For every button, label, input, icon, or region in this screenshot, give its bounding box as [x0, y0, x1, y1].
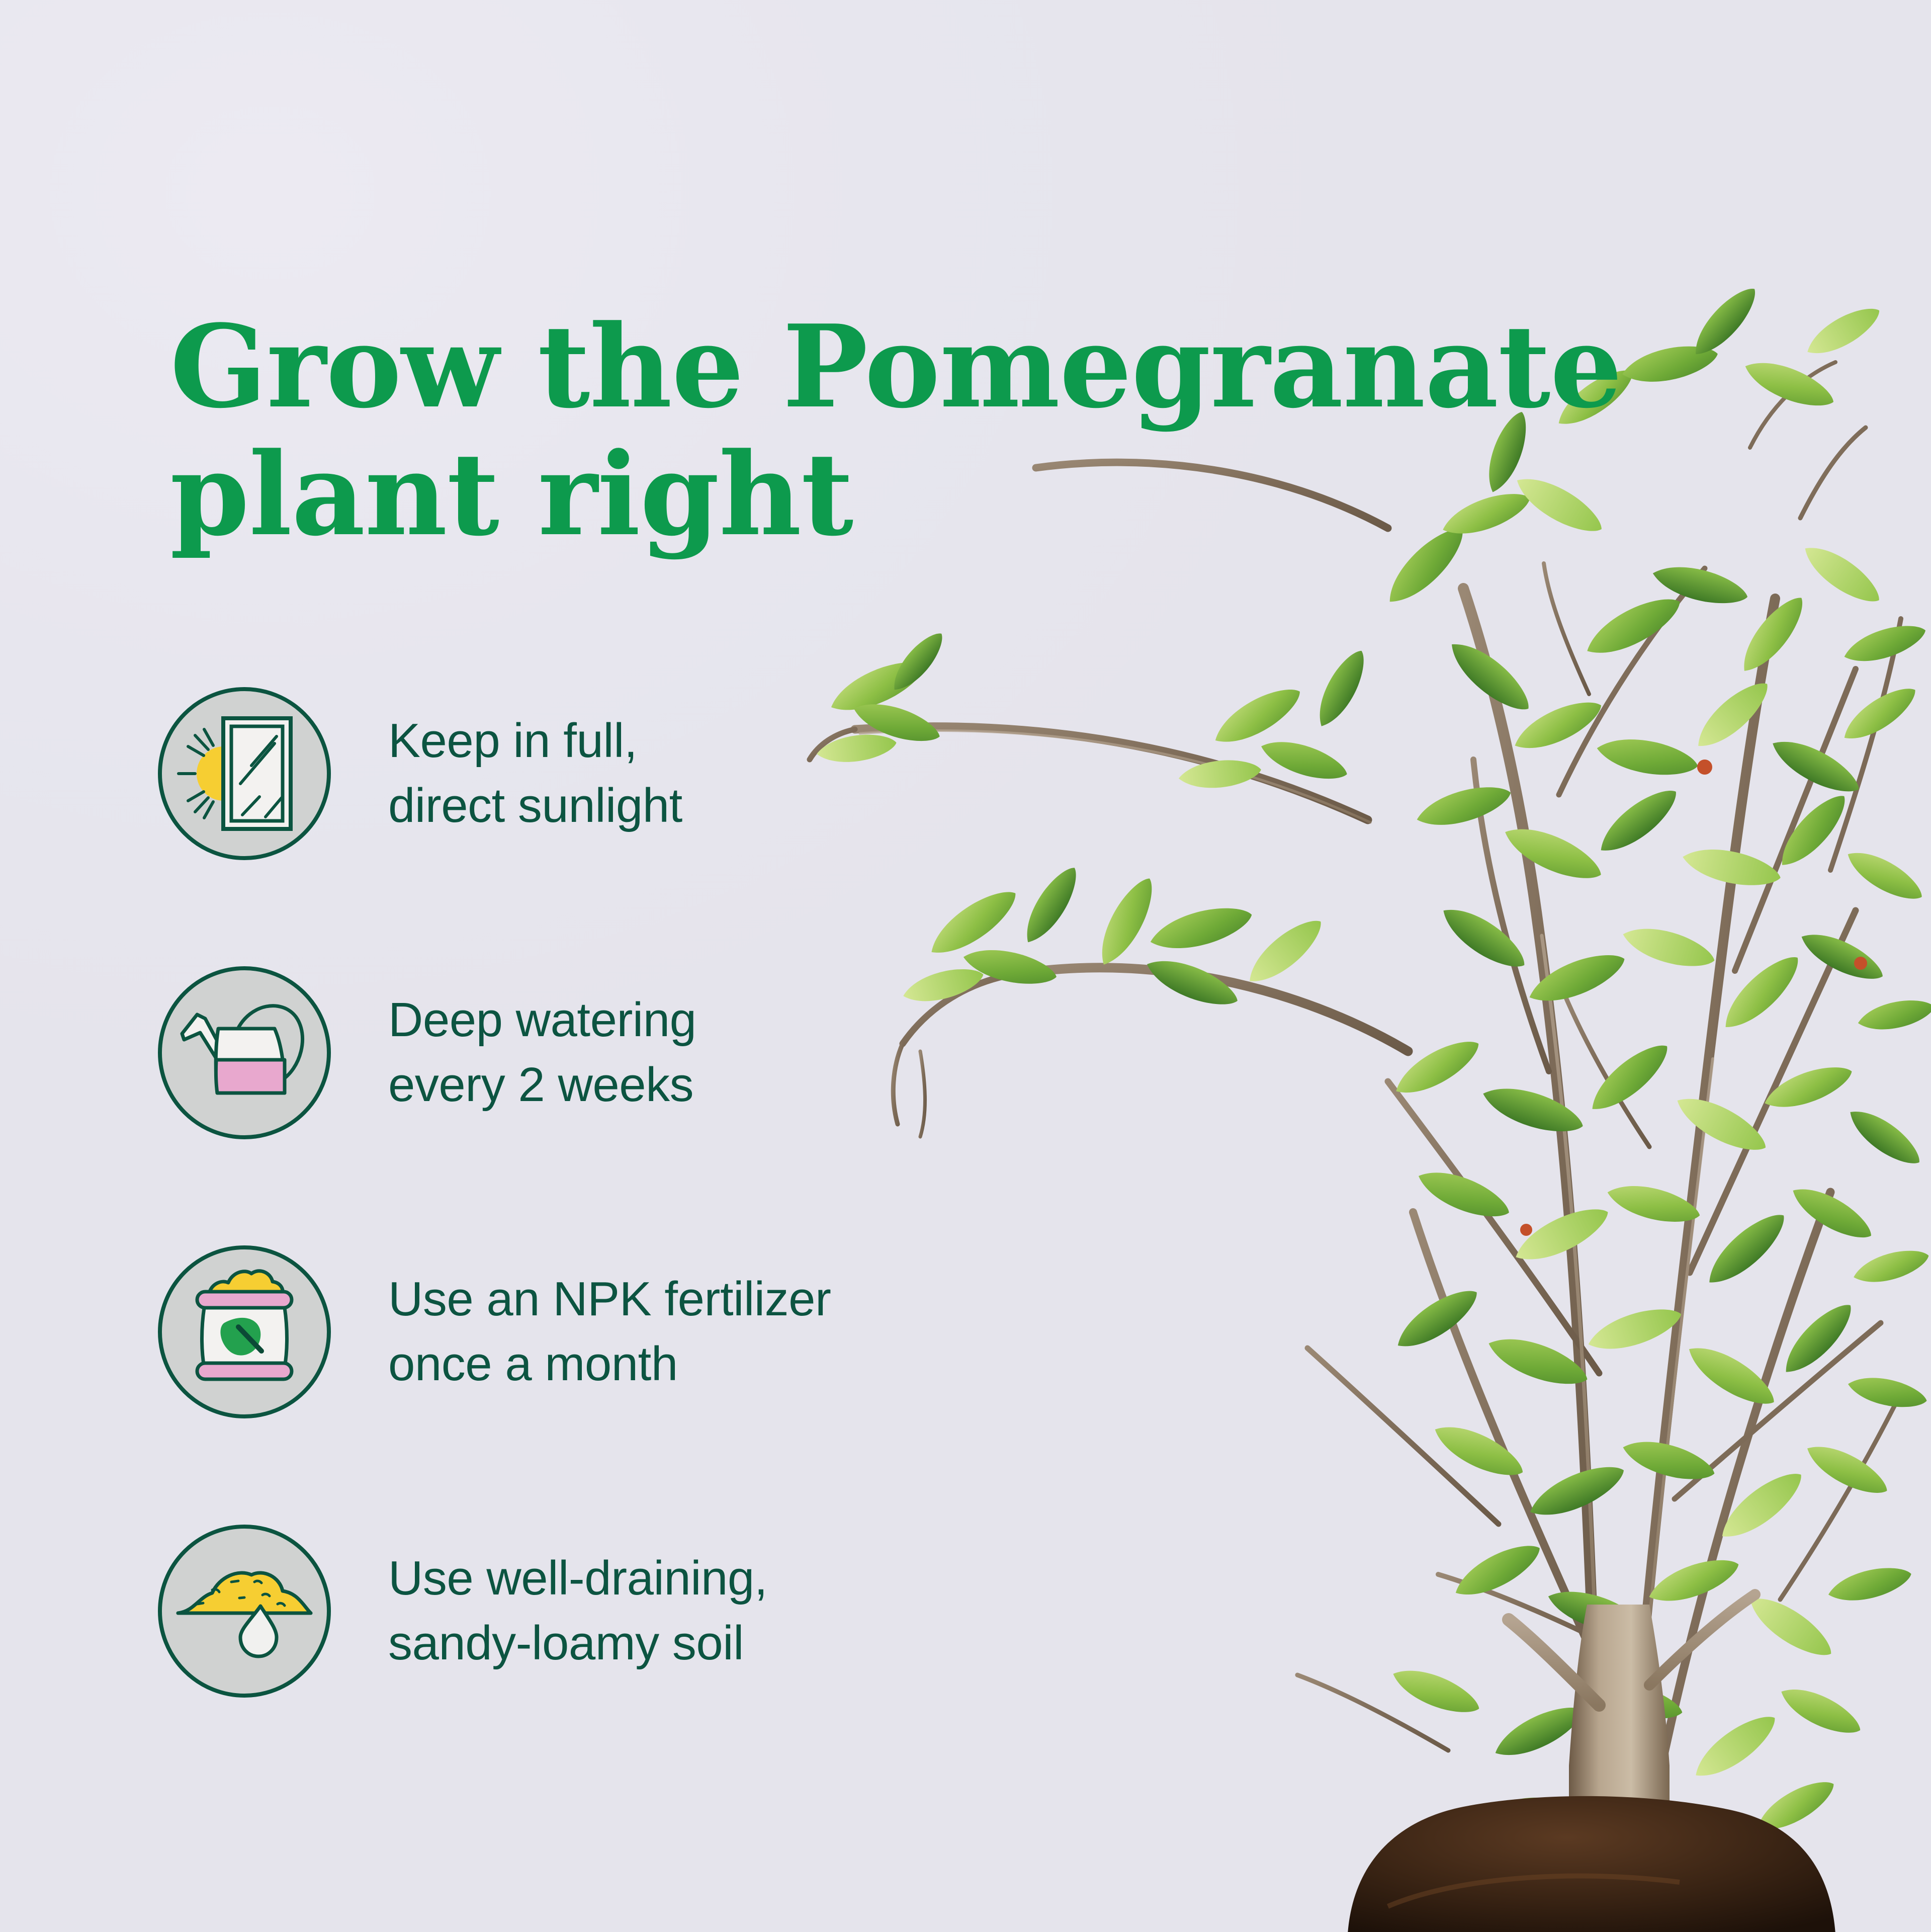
care-tips-list: Keep in full, direct sunlight Deep w [156, 685, 1011, 1700]
fertilizer-bag-icon [156, 1243, 333, 1420]
list-item-label: Use well-draining, sandy-loamy soil [388, 1546, 767, 1675]
list-item-label: Keep in full, direct sunlight [388, 709, 682, 838]
list-item: Use an NPK fertilizer once a month [156, 1243, 1011, 1420]
list-item-label: Use an NPK fertilizer once a month [388, 1267, 831, 1396]
page-title: Grow the Pomegranate plant right [170, 303, 1729, 558]
watering-can-icon [156, 964, 333, 1141]
list-item-label: Deep watering every 2 weeks [388, 988, 696, 1117]
list-item: Use well-draining, sandy-loamy soil [156, 1523, 1011, 1700]
list-item: Deep watering every 2 weeks [156, 964, 1011, 1141]
sun-window-icon [156, 685, 333, 862]
soil-droplet-icon [156, 1523, 333, 1700]
list-item: Keep in full, direct sunlight [156, 685, 1011, 862]
infographic-card: Grow the Pomegranate plant right [0, 0, 1931, 1932]
